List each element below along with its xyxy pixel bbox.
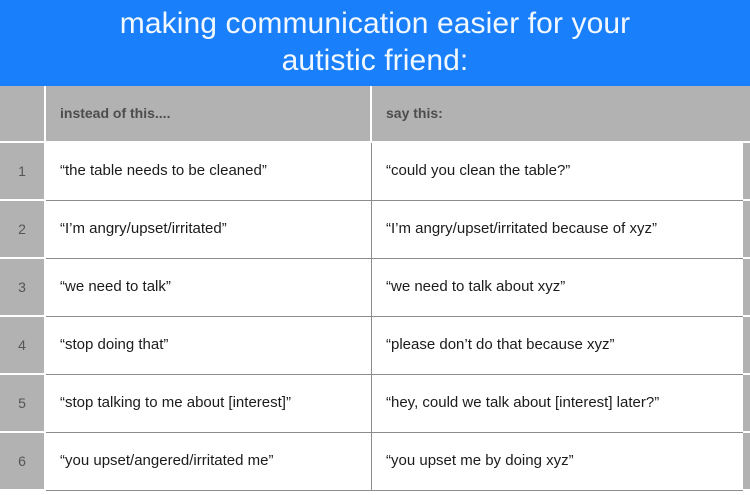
right-edge-strip — [743, 375, 750, 433]
table-header-row: instead of this.... say this: — [0, 86, 750, 143]
row-number: 1 — [0, 143, 44, 201]
right-edge-strip — [743, 433, 750, 491]
table-row: 6 “you upset/angered/irritated me” “you … — [0, 433, 750, 491]
row-say-text: “hey, could we talk about [interest] lat… — [372, 375, 743, 433]
row-number: 4 — [0, 317, 44, 375]
row-instead-text: “you upset/angered/irritated me” — [46, 433, 372, 491]
row-instead-text: “stop talking to me about [interest]” — [46, 375, 372, 433]
header-instead-of-this: instead of this.... — [46, 86, 372, 143]
table-row: 3 “we need to talk” “we need to talk abo… — [0, 259, 750, 317]
row-number: 6 — [0, 433, 44, 491]
row-say-text: “could you clean the table?” — [372, 143, 743, 201]
row-say-text: “I’m angry/upset/irritated because of xy… — [372, 201, 743, 259]
row-say-text: “we need to talk about xyz” — [372, 259, 743, 317]
header-say-this: say this: — [372, 86, 743, 143]
row-instead-text: “we need to talk” — [46, 259, 372, 317]
row-say-text: “please don’t do that because xyz” — [372, 317, 743, 375]
row-instead-text: “the table needs to be cleaned” — [46, 143, 372, 201]
right-edge-strip — [743, 317, 750, 375]
table-row: 5 “stop talking to me about [interest]” … — [0, 375, 750, 433]
right-edge-strip — [743, 86, 750, 143]
right-edge-strip — [743, 143, 750, 201]
page-title: making communication easier for your aut… — [120, 6, 630, 79]
infographic-page: making communication easier for your aut… — [0, 0, 750, 495]
row-number: 2 — [0, 201, 44, 259]
header-index-cell — [0, 86, 44, 143]
row-instead-text: “stop doing that” — [46, 317, 372, 375]
row-number: 5 — [0, 375, 44, 433]
table-row: 2 “I’m angry/upset/irritated” “I’m angry… — [0, 201, 750, 259]
row-instead-text: “I’m angry/upset/irritated” — [46, 201, 372, 259]
right-edge-strip — [743, 201, 750, 259]
row-say-text: “you upset me by doing xyz” — [372, 433, 743, 491]
title-banner: making communication easier for your aut… — [0, 0, 750, 86]
right-edge-strip — [743, 259, 750, 317]
row-number: 3 — [0, 259, 44, 317]
table-row: 1 “the table needs to be cleaned” “could… — [0, 143, 750, 201]
comparison-table: instead of this.... say this: 1 “the tab… — [0, 86, 750, 495]
table-row: 4 “stop doing that” “please don’t do tha… — [0, 317, 750, 375]
